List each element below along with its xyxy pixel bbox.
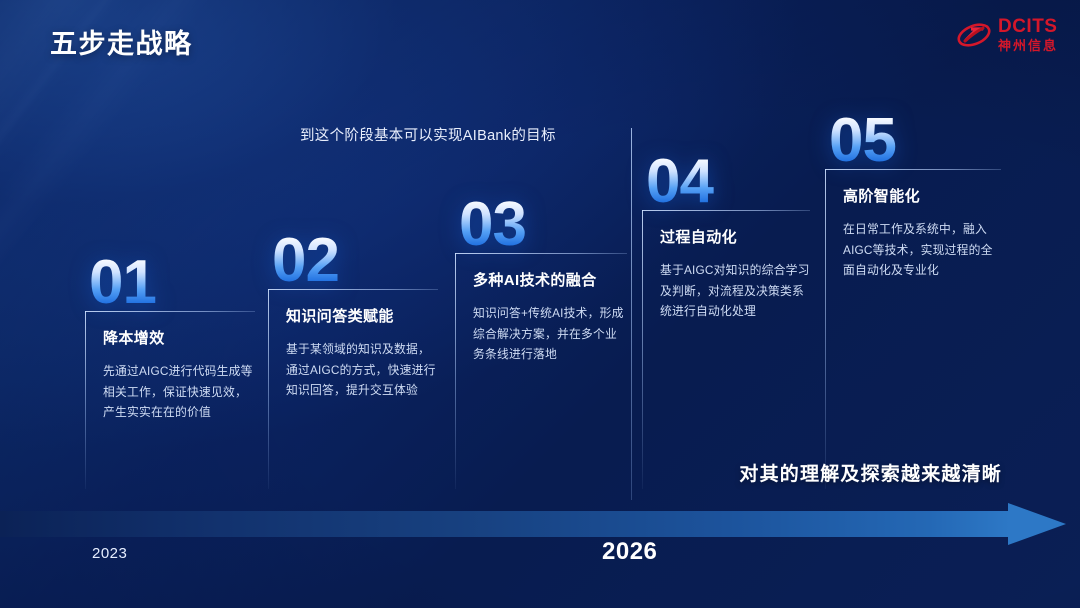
step-heading: 知识问答类赋能: [286, 305, 438, 326]
arrow-bar: [0, 511, 1010, 537]
logo-text-en: DCITS: [998, 17, 1058, 36]
vertical-divider: [631, 128, 632, 500]
step-number: 02: [272, 232, 438, 289]
step-heading: 多种AI技术的融合: [473, 269, 627, 290]
brand-logo: DCITS 神州信息: [957, 17, 1058, 52]
page-title: 五步走战略: [50, 22, 193, 61]
step-heading: 高阶智能化: [843, 185, 1001, 206]
step-card: 高阶智能化 在日常工作及系统中，融入AIGC等技术，实现过程的全面自动化及专业化: [825, 169, 1001, 489]
step-number: 01: [89, 254, 255, 311]
step-number: 04: [646, 153, 810, 210]
arrow-head-icon: [1008, 503, 1066, 545]
step-heading: 过程自动化: [660, 226, 810, 247]
step-05[interactable]: 05 高阶智能化 在日常工作及系统中，融入AIGC等技术，实现过程的全面自动化及…: [825, 112, 1001, 489]
stage-annotation: 到这个阶段基本可以实现AIBank的目标: [300, 124, 556, 145]
timeline-start-year: 2023: [92, 545, 127, 562]
step-02[interactable]: 02 知识问答类赋能 基于某领域的知识及数据，通过AIGC的方式，快速进行知识回…: [268, 232, 438, 489]
step-heading: 降本增效: [103, 327, 255, 348]
step-number: 05: [829, 112, 1001, 169]
timeline-tagline: 对其的理解及探索越来越清晰: [739, 459, 1002, 486]
timeline-arrow: [0, 503, 1080, 545]
timeline-end-year: 2026: [602, 538, 657, 566]
step-card: 过程自动化 基于AIGC对知识的综合学习及判断，对流程及决策类系统进行自动化处理: [642, 210, 810, 489]
step-01[interactable]: 01 降本增效 先通过AIGC进行代码生成等相关工作，保证快速见效，产生实实在在…: [85, 254, 255, 489]
swirl-icon: [957, 20, 991, 50]
step-body: 基于AIGC对知识的综合学习及判断，对流程及决策类系统进行自动化处理: [660, 260, 810, 322]
step-card: 多种AI技术的融合 知识问答+传统AI技术，形成综合解决方案，并在多个业务条线进…: [455, 253, 627, 489]
step-body: 先通过AIGC进行代码生成等相关工作，保证快速见效，产生实实在在的价值: [103, 361, 255, 423]
step-number: 03: [459, 196, 627, 253]
logo-text-cn: 神州信息: [998, 39, 1058, 52]
step-03[interactable]: 03 多种AI技术的融合 知识问答+传统AI技术，形成综合解决方案，并在多个业务…: [455, 196, 627, 489]
step-body: 在日常工作及系统中，融入AIGC等技术，实现过程的全面自动化及专业化: [843, 219, 1001, 281]
step-body: 知识问答+传统AI技术，形成综合解决方案，并在多个业务条线进行落地: [473, 303, 627, 365]
step-card: 知识问答类赋能 基于某领域的知识及数据，通过AIGC的方式，快速进行知识回答，提…: [268, 289, 438, 489]
step-body: 基于某领域的知识及数据，通过AIGC的方式，快速进行知识回答，提升交互体验: [286, 339, 438, 401]
step-04[interactable]: 04 过程自动化 基于AIGC对知识的综合学习及判断，对流程及决策类系统进行自动…: [642, 153, 810, 489]
step-card: 降本增效 先通过AIGC进行代码生成等相关工作，保证快速见效，产生实实在在的价值: [85, 311, 255, 489]
